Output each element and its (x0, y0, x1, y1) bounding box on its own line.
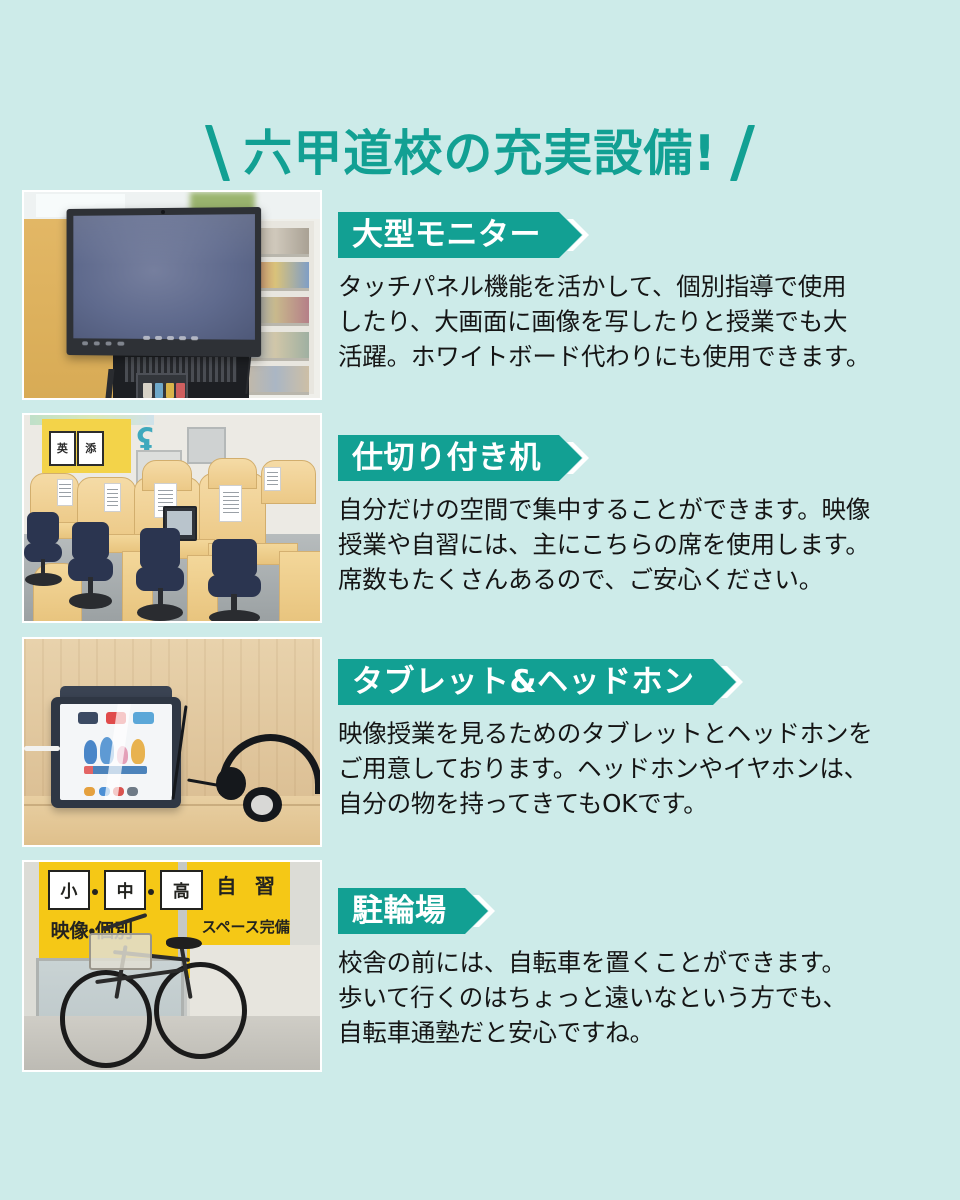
section4-content: 駐輪場 校舎の前には、自転車を置くことができます。 歩いて行くのはちょっと遠いな… (338, 860, 938, 1050)
photo3-power-cable (24, 746, 60, 751)
section3-body: 映像授業を見るためのタブレットとヘッドホンを ご用意しております。ヘッドホンやイ… (338, 717, 938, 821)
photo2-desk-note (57, 479, 74, 506)
section1-body: タッチパネル機能を活かして、個別指導で使用 したり、大画面に画像を写したりと授業… (338, 270, 938, 374)
photo4-sign-box-2: 中 (104, 870, 146, 909)
page-title-row: 六甲道校の充実設備! (0, 118, 960, 188)
photo2-desk-side (279, 551, 322, 623)
section-large-monitor: 大型モニター タッチパネル機能を活かして、個別指導で使用 したり、大画面に画像を… (0, 190, 960, 400)
photo2-chair (136, 528, 183, 621)
photo3-headphone-earcup-left (216, 767, 246, 800)
section3-content: タブレット&ヘッドホン 映像授業を見るためのタブレットとヘッドホンを ご用意して… (338, 637, 938, 821)
photo4-bicycle-rear-wheel (154, 962, 247, 1059)
section-tablet-headphones: タブレット&ヘッドホン 映像授業を見るためのタブレットとヘッドホンを ご用意して… (0, 637, 960, 847)
section4-body: 校舎の前には、自転車を置くことができます。 歩いて行くのはちょっと遠いなという方… (338, 946, 938, 1050)
photo2-poster-kanji-1: 英 (49, 431, 76, 466)
photo-bicycle-parking: 小 中 高 自 習 映像・個別 スペース完備 (22, 860, 322, 1072)
section4-heading-banner: 駐輪場 (338, 888, 465, 934)
section-partitioned-desks: 英 添 ʢ (0, 413, 960, 623)
photo-tablet-headphones (22, 637, 322, 847)
photo1-monitor-bezel (67, 207, 262, 357)
section1-heading-banner: 大型モニター (338, 212, 559, 258)
title-slash-right-icon (730, 125, 755, 181)
section1-heading: 大型モニター (352, 220, 557, 251)
photo4-sign-box-3: 高 (160, 870, 202, 909)
photo4-bicycle-front-wheel (60, 970, 153, 1067)
photo2-chair (68, 522, 112, 609)
section4-heading: 駐輪場 (352, 896, 463, 927)
photo2-desk-note (104, 483, 121, 512)
photo4-sign-line2-right: スペース完備 (202, 916, 290, 937)
photo4-sign-jishuu-1: 自 (216, 870, 236, 899)
photo2-desk-note (264, 467, 281, 492)
photo2-desk-note (219, 485, 242, 522)
photo4-bicycle-saddle (166, 937, 202, 949)
photo4-sign-box-1: 小 (48, 870, 90, 909)
chevron-right-icon (713, 659, 759, 705)
photo3-tablet-frame (51, 697, 181, 808)
photo3-tablet-screen (60, 704, 172, 800)
section2-content: 仕切り付き机 自分だけの空間で集中することができます。映像 授業や自習には、主に… (338, 413, 938, 597)
chevron-right-icon (465, 888, 511, 934)
photo3-headphone-earcup-right (243, 787, 281, 822)
page-title: 六甲道校の充実設備! (243, 129, 716, 178)
photo2-chair (208, 539, 261, 623)
photo1-bezel-buttons (82, 341, 124, 349)
section2-heading-banner: 仕切り付き机 (338, 435, 559, 481)
photo1-monitor-camera-icon (161, 210, 165, 214)
section2-body: 自分だけの空間で集中することができます。映像 授業や自習には、主にこちらの席を使… (338, 493, 938, 597)
photo4-sign-jishuu-2: 習 (255, 870, 275, 899)
section2-heading: 仕切り付き机 (352, 443, 557, 474)
photo4-bicycle-basket (89, 933, 152, 970)
photo1-stand-basket (136, 373, 187, 400)
chevron-right-icon (559, 212, 605, 258)
photo2-wall-poster: 英 添 (42, 419, 131, 473)
photo-large-monitor (22, 190, 322, 400)
title-slash-left-icon (205, 125, 230, 181)
section-bicycle-parking: 小 中 高 自 習 映像・個別 スペース完備 駐輪場 校舎の前には、自転車を (0, 860, 960, 1072)
photo1-screen-toolbar (144, 335, 199, 342)
section3-heading: タブレット&ヘッドホン (352, 667, 711, 698)
photo2-chair (24, 512, 62, 586)
chevron-right-icon (559, 435, 605, 481)
section3-heading-banner: タブレット&ヘッドホン (338, 659, 713, 705)
section1-content: 大型モニター タッチパネル機能を活かして、個別指導で使用 したり、大画面に画像を… (338, 190, 938, 374)
photo2-poster-kanji-2: 添 (77, 431, 104, 466)
photo1-monitor-screen (73, 215, 255, 340)
photo-partitioned-desks: 英 添 ʢ (22, 413, 322, 623)
